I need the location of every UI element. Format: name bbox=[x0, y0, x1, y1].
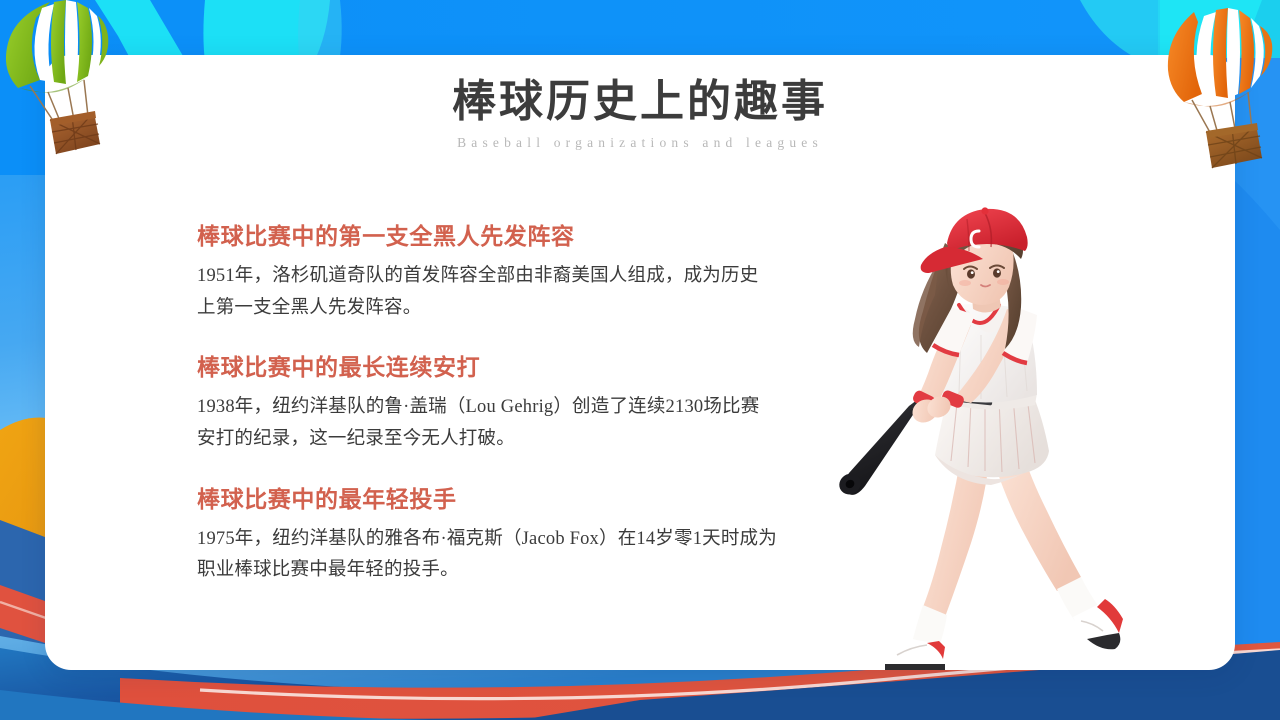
hot-air-balloon-green-icon bbox=[2, 0, 132, 165]
slide-header: 棒球历史上的趣事 Baseball organizations and leag… bbox=[45, 77, 1235, 151]
hot-air-balloon-orange-icon bbox=[1160, 2, 1280, 172]
section-heading: 棒球比赛中的最长连续安打 bbox=[197, 354, 777, 383]
section-heading: 棒球比赛中的最年轻投手 bbox=[197, 486, 777, 515]
page-title: 棒球历史上的趣事 bbox=[45, 77, 1235, 126]
baseball-player-illustration bbox=[835, 203, 1155, 670]
list-item: 棒球比赛中的最年轻投手 1975年，纽约洋基队的雅各布·福克斯（Jacob Fo… bbox=[197, 486, 777, 587]
section-heading: 棒球比赛中的第一支全黑人先发阵容 bbox=[197, 223, 777, 252]
section-body: 1938年，纽约洋基队的鲁·盖瑞（Lou Gehrig）创造了连续2130场比赛… bbox=[197, 392, 777, 456]
list-item: 棒球比赛中的第一支全黑人先发阵容 1951年，洛杉矶道奇队的首发阵容全部由非裔美… bbox=[197, 223, 777, 324]
list-item: 棒球比赛中的最长连续安打 1938年，纽约洋基队的鲁·盖瑞（Lou Gehrig… bbox=[197, 354, 777, 455]
section-body: 1951年，洛杉矶道奇队的首发阵容全部由非裔美国人组成，成为历史上第一支全黑人先… bbox=[197, 261, 777, 325]
fact-list: 棒球比赛中的第一支全黑人先发阵容 1951年，洛杉矶道奇队的首发阵容全部由非裔美… bbox=[197, 223, 777, 587]
section-body: 1975年，纽约洋基队的雅各布·福克斯（Jacob Fox）在14岁零1天时成为… bbox=[197, 524, 777, 588]
presentation-slide: 棒球历史上的趣事 Baseball organizations and leag… bbox=[0, 0, 1280, 720]
content-card: 棒球历史上的趣事 Baseball organizations and leag… bbox=[45, 55, 1235, 670]
page-subtitle: Baseball organizations and leagues bbox=[45, 135, 1235, 151]
